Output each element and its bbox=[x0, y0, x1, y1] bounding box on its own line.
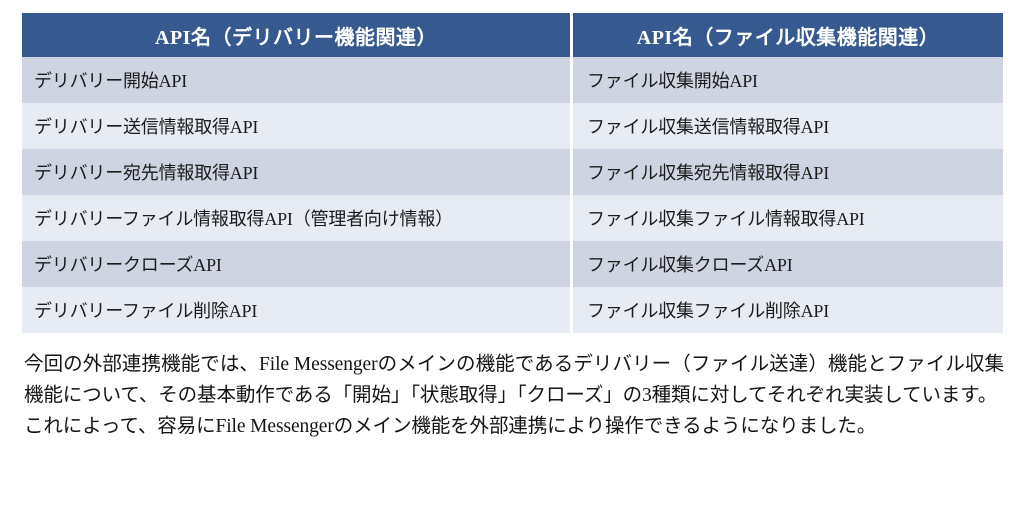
column-header-delivery-api: API名（デリバリー機能関連） bbox=[22, 13, 570, 57]
description-paragraph-2: これによって、容易にFile Messengerのメイン機能を外部連携により操作… bbox=[24, 411, 1004, 442]
cell-collection-api: ファイル収集宛先情報取得API bbox=[573, 149, 1003, 195]
table-row: デリバリーファイル情報取得API（管理者向け情報） ファイル収集ファイル情報取得… bbox=[22, 195, 1003, 241]
table-row: デリバリー開始API ファイル収集開始API bbox=[22, 57, 1003, 103]
cell-delivery-api: デリバリーファイル情報取得API（管理者向け情報） bbox=[22, 195, 570, 241]
description-paragraph-1: 今回の外部連携機能では、File Messengerのメインの機能であるデリバリ… bbox=[24, 349, 1004, 411]
description-text-block: 今回の外部連携機能では、File Messengerのメインの機能であるデリバリ… bbox=[24, 349, 1004, 442]
cell-collection-api: ファイル収集開始API bbox=[573, 57, 1003, 103]
column-header-collection-api: API名（ファイル収集機能関連） bbox=[573, 13, 1003, 57]
table-header: API名（デリバリー機能関連） API名（ファイル収集機能関連） bbox=[22, 13, 1003, 57]
cell-collection-api: ファイル収集ファイル情報取得API bbox=[573, 195, 1003, 241]
cell-collection-api: ファイル収集クローズAPI bbox=[573, 241, 1003, 287]
cell-collection-api: ファイル収集送信情報取得API bbox=[573, 103, 1003, 149]
cell-delivery-api: デリバリー送信情報取得API bbox=[22, 103, 570, 149]
document-page: API名（デリバリー機能関連） API名（ファイル収集機能関連） デリバリー開始… bbox=[0, 0, 1024, 512]
table-body: デリバリー開始API ファイル収集開始API デリバリー送信情報取得API ファ… bbox=[22, 57, 1003, 333]
table-header-row: API名（デリバリー機能関連） API名（ファイル収集機能関連） bbox=[22, 13, 1003, 57]
cell-delivery-api: デリバリーファイル削除API bbox=[22, 287, 570, 333]
table-row: デリバリークローズAPI ファイル収集クローズAPI bbox=[22, 241, 1003, 287]
table-row: デリバリー宛先情報取得API ファイル収集宛先情報取得API bbox=[22, 149, 1003, 195]
cell-delivery-api: デリバリー開始API bbox=[22, 57, 570, 103]
api-list-table: API名（デリバリー機能関連） API名（ファイル収集機能関連） デリバリー開始… bbox=[22, 13, 1003, 333]
table-row: デリバリーファイル削除API ファイル収集ファイル削除API bbox=[22, 287, 1003, 333]
cell-delivery-api: デリバリー宛先情報取得API bbox=[22, 149, 570, 195]
cell-delivery-api: デリバリークローズAPI bbox=[22, 241, 570, 287]
cell-collection-api: ファイル収集ファイル削除API bbox=[573, 287, 1003, 333]
table-row: デリバリー送信情報取得API ファイル収集送信情報取得API bbox=[22, 103, 1003, 149]
